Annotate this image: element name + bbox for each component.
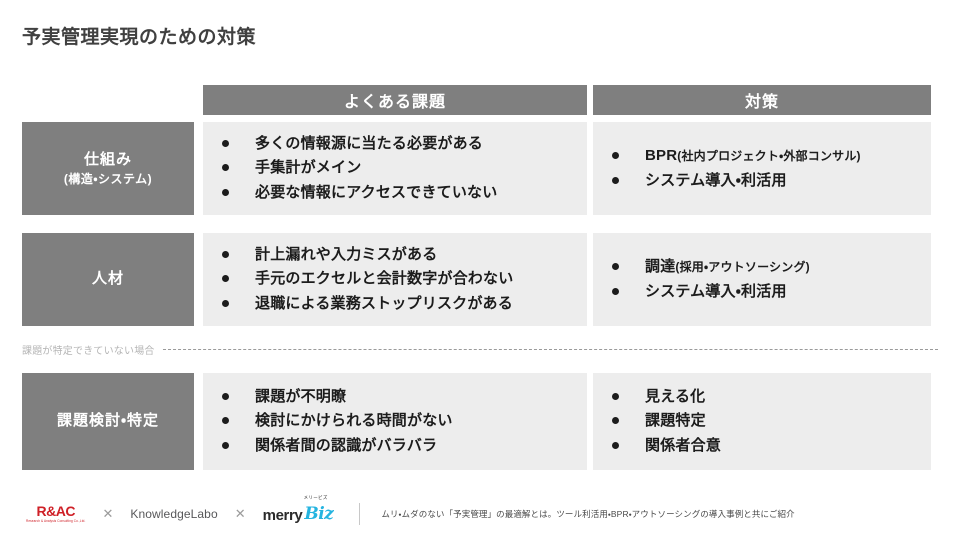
list-item: 見える化 (593, 385, 931, 409)
row-label-system: 仕組み (構造・システム) (22, 122, 194, 215)
bullet-dot-icon (612, 288, 619, 295)
list-item: 手集計がメイン (203, 156, 587, 180)
cell-people-issues: 計上漏れや入力ミスがある 手元のエクセルと会計数字が合わない 退職による業務スト… (203, 233, 587, 326)
row-label-people-main: 人材 (92, 269, 124, 289)
cell-issue-definition-issues: 課題が不明瞭 検討にかけられる時間がない 関係者間の認識がバラバラ (203, 373, 587, 470)
separator-label: 課題が特定できていない場合 (22, 342, 155, 357)
list-item-main: BPR (645, 147, 677, 164)
row-label-issue-definition: 課題検討・特定 (22, 373, 194, 470)
list-item-text: システム導入・利活用 (645, 169, 931, 193)
bullet-dot-icon (222, 442, 229, 449)
list-item-annotation: (採用・アウトソーシング) (675, 260, 809, 274)
list-item: 多くの情報源に当たる必要がある (203, 132, 587, 156)
list-item: 計上漏れや入力ミスがある (203, 243, 587, 267)
cell-system-issues: 多くの情報源に当たる必要がある 手集計がメイン 必要な情報にアクセスできていない (203, 122, 587, 215)
column-header-issues: よくある課題 (203, 85, 587, 115)
bullet-list-people-measures: 調達(採用・アウトソーシング) システム導入・利活用 (593, 255, 931, 304)
bullet-dot-icon (222, 275, 229, 282)
list-item: 関係者合意 (593, 434, 931, 458)
list-item-main: システム導入・利活用 (645, 283, 787, 300)
list-item-text: 検討にかけられる時間がない (255, 409, 587, 433)
bullet-dot-icon (222, 393, 229, 400)
list-item-text: システム導入・利活用 (645, 280, 931, 304)
separator-dashed-line (163, 349, 938, 350)
footer-vertical-divider (359, 503, 360, 525)
column-header-measures: 対策 (593, 85, 931, 115)
bullet-dot-icon (222, 189, 229, 196)
list-item-text: 計上漏れや入力ミスがある (255, 243, 587, 267)
logo-rac-main: R&AC (37, 504, 75, 518)
list-item: 課題特定 (593, 409, 931, 433)
bullet-list-issue-definition-measures: 見える化 課題特定 関係者合意 (593, 385, 931, 458)
bullet-dot-icon (222, 417, 229, 424)
logo-rac: R&AC Research & Analysis Consulting Co.,… (26, 504, 85, 523)
bullet-dot-icon (612, 417, 619, 424)
list-item: 関係者間の認識がバラバラ (203, 434, 587, 458)
cross-separator-icon: ✕ (102, 506, 113, 522)
column-header-issues-label: よくある課題 (344, 88, 446, 112)
logo-merrybiz: メリービズ merry Biz (263, 504, 334, 524)
bullet-list-people-issues: 計上漏れや入力ミスがある 手元のエクセルと会計数字が合わない 退職による業務スト… (203, 243, 587, 316)
list-item-main: 調達 (645, 258, 675, 275)
row-label-issue-definition-main: 課題検討・特定 (57, 411, 159, 431)
column-header-measures-label: 対策 (745, 88, 779, 112)
list-item: 調達(採用・アウトソーシング) (593, 255, 931, 279)
row-label-system-main: 仕組み (84, 150, 132, 170)
row-label-system-sub: (構造・システム) (64, 171, 152, 187)
bullet-list-system-measures: BPR(社内プロジェクト・外部コンサル) システム導入・利活用 (593, 144, 931, 193)
bullet-list-system-issues: 多くの情報源に当たる必要がある 手集計がメイン 必要な情報にアクセスできていない (203, 132, 587, 205)
cell-issue-definition-measures: 見える化 課題特定 関係者合意 (593, 373, 931, 470)
list-item-text: 必要な情報にアクセスできていない (255, 181, 587, 205)
footer: R&AC Research & Analysis Consulting Co.,… (0, 487, 960, 540)
list-item-text: 多くの情報源に当たる必要がある (255, 132, 587, 156)
footer-logo-group: R&AC Research & Analysis Consulting Co.,… (26, 503, 795, 525)
list-item-text: 見える化 (645, 385, 931, 409)
list-item-text: BPR(社内プロジェクト・外部コンサル) (645, 144, 931, 168)
bullet-dot-icon (222, 140, 229, 147)
list-item-main: システム導入・利活用 (645, 172, 787, 189)
list-item-text: 手元のエクセルと会計数字が合わない (255, 267, 587, 291)
bullet-dot-icon (612, 177, 619, 184)
list-item: 必要な情報にアクセスできていない (203, 181, 587, 205)
list-item-text: 調達(採用・アウトソーシング) (645, 255, 931, 279)
logo-knowledgelabo: KnowledgeLabo (130, 507, 217, 521)
list-item-annotation: (社内プロジェクト・外部コンサル) (677, 149, 860, 163)
bullet-dot-icon (222, 164, 229, 171)
measures-matrix: よくある課題 対策 仕組み (構造・システム) 多くの情報源に当たる必要がある … (0, 0, 960, 540)
list-item-text: 関係者合意 (645, 434, 931, 458)
logo-merrybiz-kana: メリービズ (304, 495, 328, 501)
cross-separator-icon: ✕ (235, 506, 246, 522)
list-item: 検討にかけられる時間がない (203, 409, 587, 433)
bullet-dot-icon (222, 300, 229, 307)
list-item: 退職による業務ストップリスクがある (203, 292, 587, 316)
bullet-dot-icon (612, 393, 619, 400)
bullet-dot-icon (612, 442, 619, 449)
list-item-text: 手集計がメイン (255, 156, 587, 180)
cell-people-measures: 調達(採用・アウトソーシング) システム導入・利活用 (593, 233, 931, 326)
bullet-dot-icon (612, 152, 619, 159)
list-item: システム導入・利活用 (593, 169, 931, 193)
logo-merrybiz-biz: Biz (304, 504, 333, 524)
footer-tagline: ムリ・ムダのない「予実管理」の最適解とは。ツール利活用・BPR・アウトソーシング… (381, 508, 794, 520)
row-label-people: 人材 (22, 233, 194, 326)
list-item-text: 課題が不明瞭 (255, 385, 587, 409)
list-item: 課題が不明瞭 (203, 385, 587, 409)
list-item-text: 関係者間の認識がバラバラ (255, 434, 587, 458)
bullet-dot-icon (612, 263, 619, 270)
bullet-list-issue-definition-issues: 課題が不明瞭 検討にかけられる時間がない 関係者間の認識がバラバラ (203, 385, 587, 458)
list-item-text: 退職による業務ストップリスクがある (255, 292, 587, 316)
list-item: BPR(社内プロジェクト・外部コンサル) (593, 144, 931, 168)
separator: 課題が特定できていない場合 (22, 340, 938, 358)
logo-rac-tagline: Research & Analysis Consulting Co.,Ltd. (26, 520, 85, 523)
logo-merrybiz-main: merry (263, 507, 303, 524)
list-item: 手元のエクセルと会計数字が合わない (203, 267, 587, 291)
list-item: システム導入・利活用 (593, 280, 931, 304)
bullet-dot-icon (222, 251, 229, 258)
list-item-text: 課題特定 (645, 409, 931, 433)
cell-system-measures: BPR(社内プロジェクト・外部コンサル) システム導入・利活用 (593, 122, 931, 215)
